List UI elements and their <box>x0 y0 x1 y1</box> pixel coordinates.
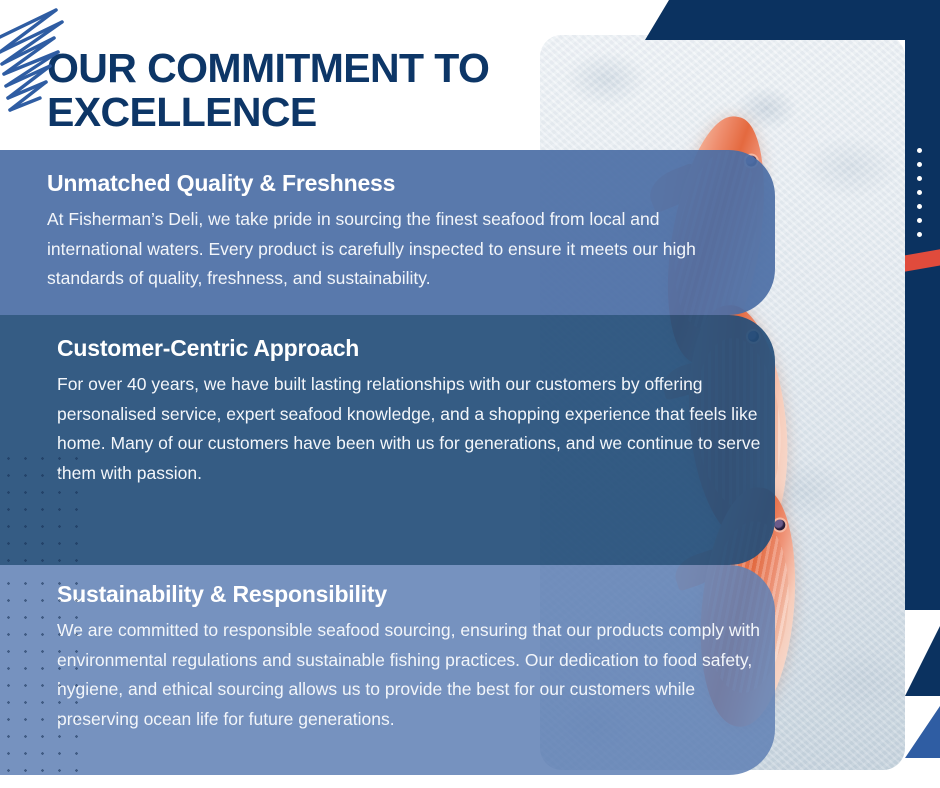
section-card-quality: Unmatched Quality & Freshness At Fisherm… <box>0 150 775 315</box>
strip-dot-icon <box>917 162 922 167</box>
section-body: At Fisherman’s Deli, we take pride in so… <box>47 205 752 295</box>
strip-dot-icon <box>917 232 922 237</box>
page-title: OUR COMMITMENT TO EXCELLENCE <box>47 46 547 135</box>
slide-canvas: OUR COMMITMENT TO EXCELLENCE Unmatched Q… <box>0 0 940 788</box>
section-card-sustainability: Sustainability & Responsibility We are c… <box>0 565 775 775</box>
right-decorative-strip <box>905 0 940 788</box>
section-heading: Sustainability & Responsibility <box>57 581 775 609</box>
blue-triangle-accent <box>905 706 940 758</box>
strip-dot-icon <box>917 176 922 181</box>
scribble-icon <box>0 8 74 120</box>
strip-dot-icon <box>917 218 922 223</box>
section-card-customer: Customer-Centric Approach For over 40 ye… <box>0 315 775 565</box>
white-dots-icon <box>917 148 925 244</box>
navy-triangle-accent <box>905 626 940 696</box>
section-heading: Unmatched Quality & Freshness <box>47 170 775 198</box>
strip-dot-icon <box>917 148 922 153</box>
section-body: We are committed to responsible seafood … <box>57 616 762 736</box>
section-heading: Customer-Centric Approach <box>57 335 775 363</box>
section-body: For over 40 years, we have built lasting… <box>57 370 762 490</box>
navy-parallelogram <box>645 0 940 40</box>
strip-dot-icon <box>917 204 922 209</box>
fish-eye-icon <box>774 519 786 531</box>
strip-dot-icon <box>917 190 922 195</box>
navy-panel <box>905 0 940 610</box>
